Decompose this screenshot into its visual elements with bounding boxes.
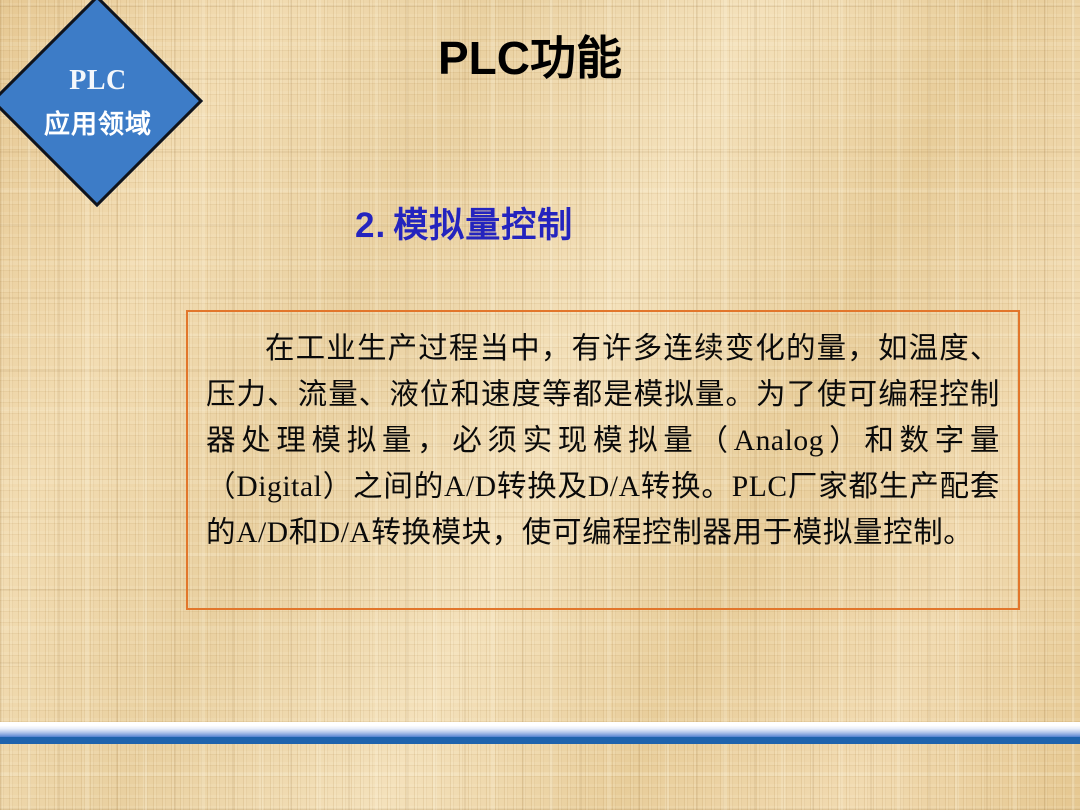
- body-paragraph: 在工业生产过程当中，有许多连续变化的量，如温度、压力、流量、液位和速度等都是模拟…: [206, 326, 1000, 556]
- slide-canvas: PLC 应用领域 PLC功能 2.模拟量控制 在工业生产过程当中，有许多连续变化…: [0, 0, 1080, 810]
- diamond-icon: [0, 0, 203, 207]
- section-subtitle: 2.模拟量控制: [355, 205, 573, 247]
- bottom-bar-gradient: [0, 722, 1080, 737]
- section-subtitle-label: 模拟量控制: [393, 206, 573, 245]
- section-number: 2.: [355, 206, 386, 245]
- body-text-box: 在工业生产过程当中，有许多连续变化的量，如温度、压力、流量、液位和速度等都是模拟…: [186, 310, 1020, 610]
- bottom-bar-solid-line: [0, 737, 1080, 744]
- page-title: PLC功能: [250, 33, 810, 84]
- plc-application-badge: PLC 应用领域: [0, 0, 196, 204]
- bottom-decorative-bar: [0, 722, 1080, 744]
